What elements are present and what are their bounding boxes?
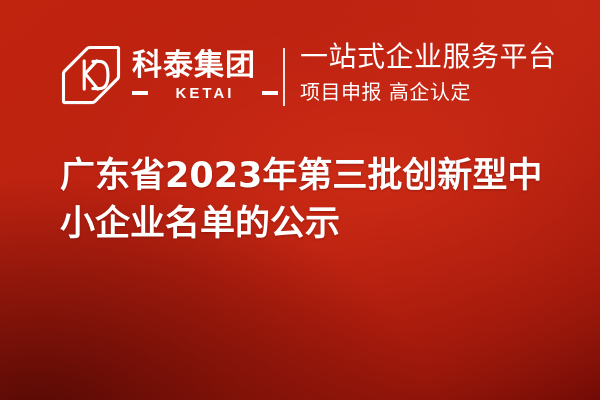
brand-logo[interactable]: 科泰集团 KETAI bbox=[60, 38, 278, 112]
brand-tagline: 一站式企业服务平台 项目申报 高企认定 bbox=[300, 40, 560, 104]
promo-banner: 科泰集团 KETAI 一站式企业服务平台 项目申报 高企认定 广东省2023年第… bbox=[0, 0, 600, 400]
brand-wordmark: 科泰集团 KETAI bbox=[132, 50, 278, 101]
banner-content: 科泰集团 KETAI 一站式企业服务平台 项目申报 高企认定 广东省2023年第… bbox=[0, 0, 600, 400]
brand-latin-row: KETAI bbox=[132, 86, 278, 101]
brand-name-latin: KETAI bbox=[148, 86, 262, 101]
brand-rule-left-icon bbox=[132, 91, 148, 95]
ketai-diamond-monogram-icon bbox=[60, 44, 122, 106]
tagline-secondary: 项目申报 高企认定 bbox=[300, 80, 560, 104]
header-divider bbox=[283, 48, 285, 106]
brand-name-cn: 科泰集团 bbox=[132, 50, 278, 82]
tagline-primary: 一站式企业服务平台 bbox=[300, 40, 560, 74]
page-title: 广东省2023年第三批创新型中小企业名单的公示 bbox=[60, 152, 560, 248]
brand-rule-right-icon bbox=[262, 91, 278, 95]
